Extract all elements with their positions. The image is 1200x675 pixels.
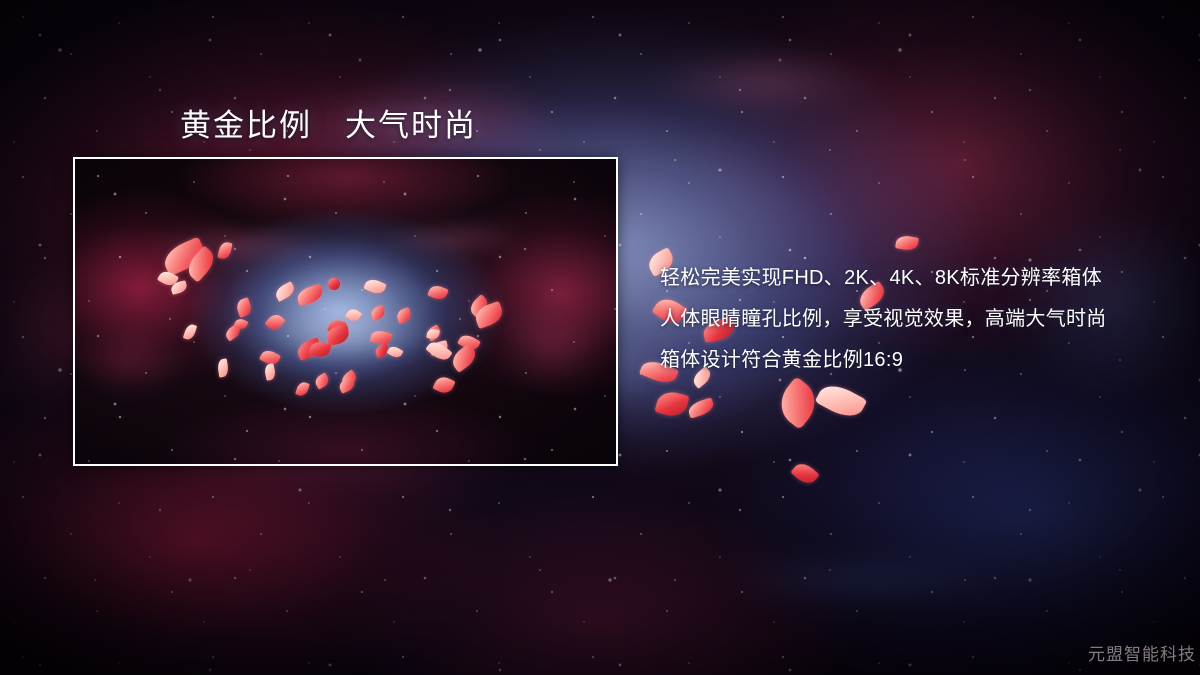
body-line-3: 箱体设计符合黄金比例16:9 bbox=[660, 340, 1180, 381]
watermark-brand: 元盟智能科技 bbox=[1088, 640, 1196, 665]
image-panel-frame bbox=[73, 157, 618, 466]
slide-title: 黄金比例 大气时尚 bbox=[180, 100, 477, 145]
petal-icon bbox=[328, 278, 340, 290]
body-line-2: 人体眼睛瞳孔比例，享受视觉效果，高端大气时尚 bbox=[660, 299, 1180, 340]
body-text-block: 轻松完美实现FHD、2K、4K、8K标准分辨率箱体 人体眼睛瞳孔比例，享受视觉效… bbox=[660, 258, 1180, 381]
body-line-1: 轻松完美实现FHD、2K、4K、8K标准分辨率箱体 bbox=[660, 258, 1180, 299]
image-panel-wisps bbox=[75, 159, 616, 464]
presentation-slide: 黄金比例 大气时尚 bbox=[0, 0, 1200, 675]
